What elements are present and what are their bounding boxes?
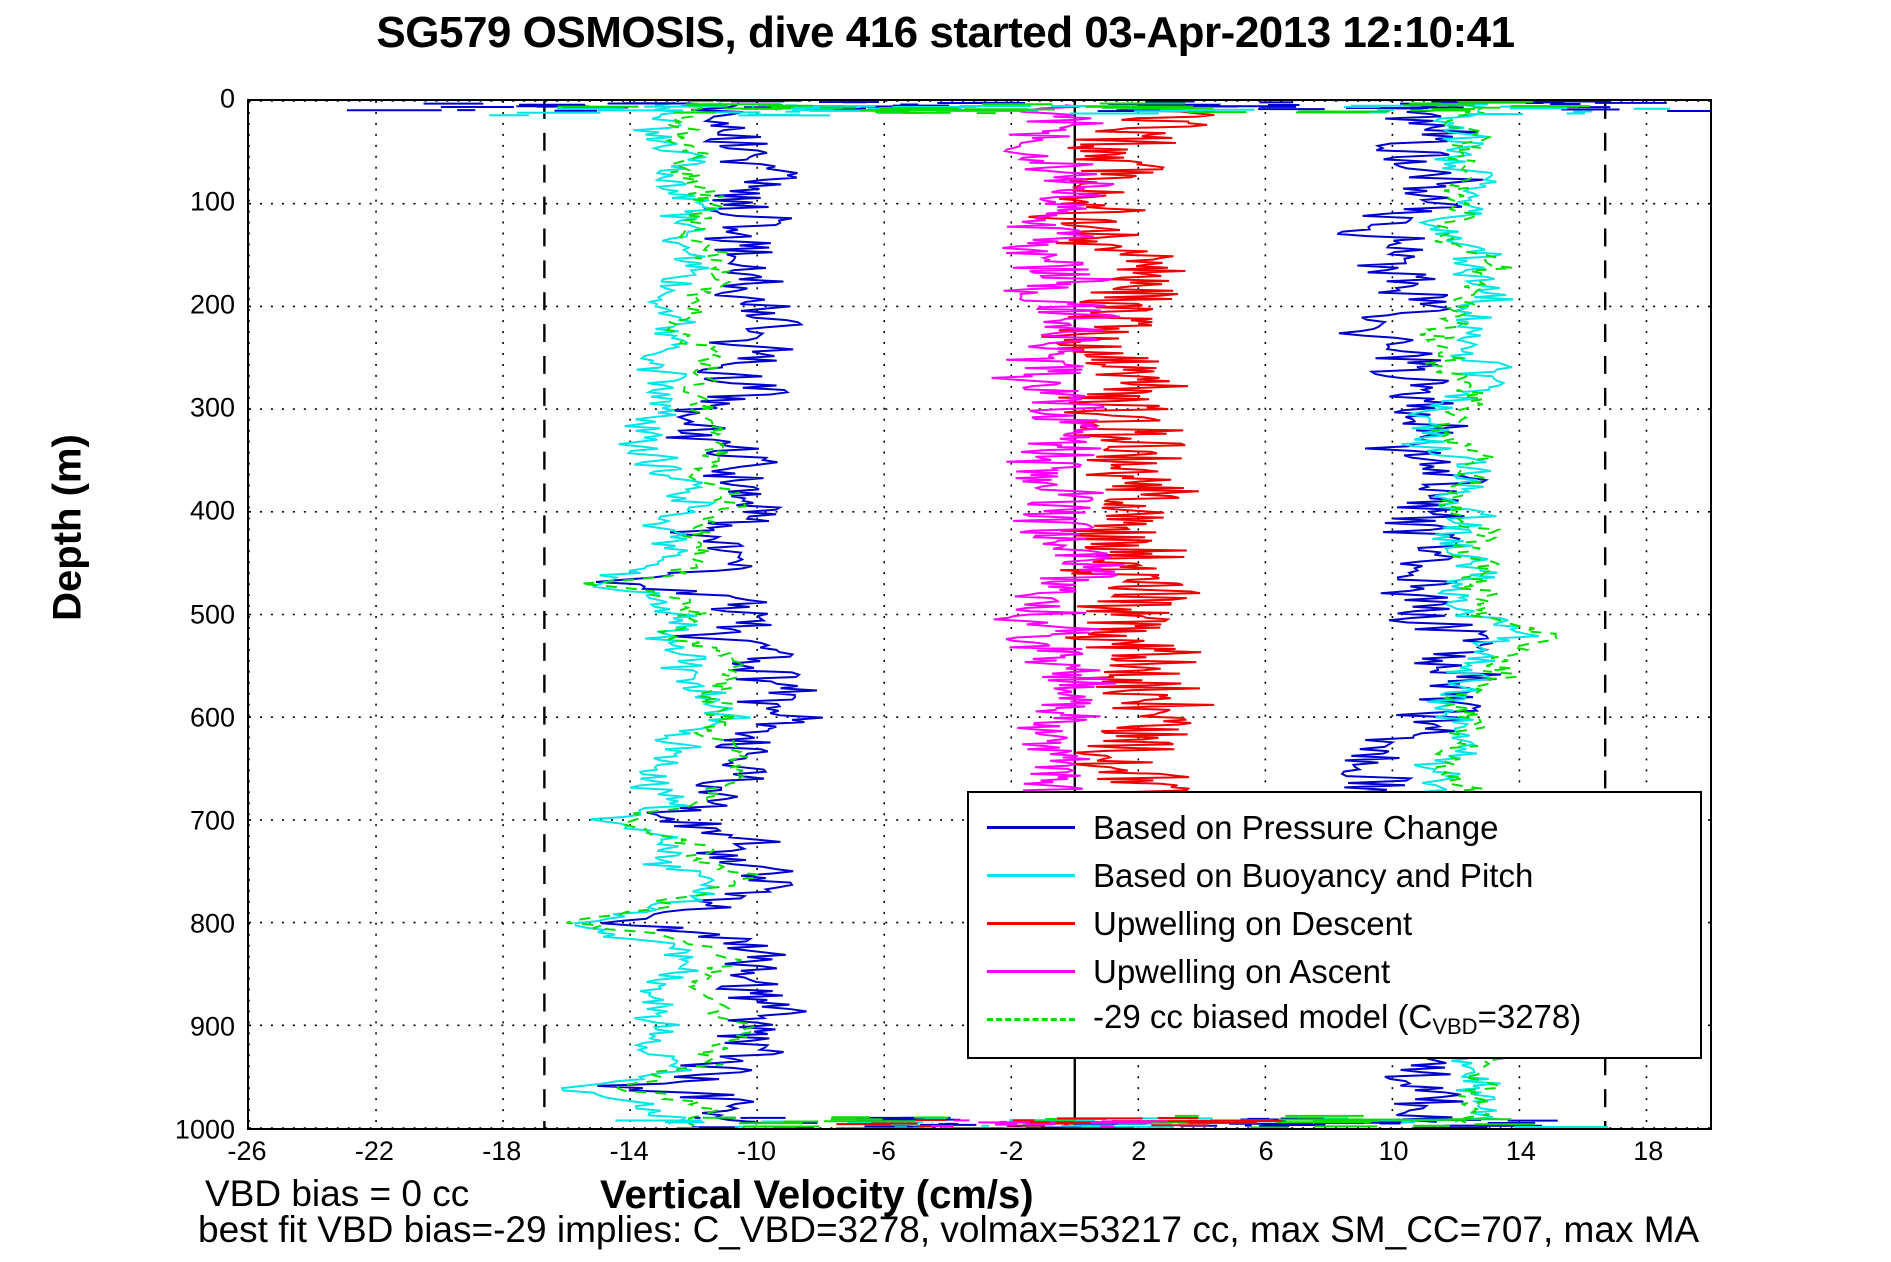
legend-label: -29 cc biased model (CVBD=3278) bbox=[1093, 1000, 1581, 1038]
y-axis-title: Depth (m) bbox=[46, 198, 91, 858]
x-tick-label: -10 bbox=[737, 1136, 776, 1167]
y-tick-label: 100 bbox=[190, 187, 235, 218]
y-tick-label: 600 bbox=[190, 702, 235, 733]
x-tick-label: 14 bbox=[1506, 1136, 1536, 1167]
legend-swatch-icon bbox=[987, 1018, 1075, 1021]
y-tick-label: 0 bbox=[220, 84, 235, 115]
x-tick-label: 2 bbox=[1131, 1136, 1146, 1167]
best-fit-note: best fit VBD bias=-29 implies: C_VBD=327… bbox=[198, 1209, 1699, 1251]
x-tick-label: -14 bbox=[610, 1136, 649, 1167]
page-title: SG579 OSMOSIS, dive 416 started 03-Apr-2… bbox=[0, 8, 1891, 58]
y-axis-tick-labels: 01002003004005006007008009001000 bbox=[140, 99, 235, 1130]
legend: Based on Pressure ChangeBased on Buoyanc… bbox=[967, 791, 1702, 1059]
y-tick-label: 500 bbox=[190, 599, 235, 630]
legend-item-2[interactable]: Upwelling on Descent bbox=[969, 899, 1700, 947]
y-tick-label: 400 bbox=[190, 496, 235, 527]
legend-label: Upwelling on Ascent bbox=[1093, 955, 1390, 988]
y-tick-label: 200 bbox=[190, 290, 235, 321]
x-tick-label: 6 bbox=[1259, 1136, 1274, 1167]
legend-label: Based on Pressure Change bbox=[1093, 811, 1498, 844]
legend-swatch-icon bbox=[987, 874, 1075, 877]
legend-swatch-icon bbox=[987, 826, 1075, 829]
y-tick-label: 900 bbox=[190, 1011, 235, 1042]
y-tick-label: 700 bbox=[190, 805, 235, 836]
x-tick-label: -22 bbox=[355, 1136, 394, 1167]
x-tick-label: -6 bbox=[872, 1136, 896, 1167]
legend-swatch-icon bbox=[987, 970, 1075, 973]
x-tick-label: 18 bbox=[1633, 1136, 1663, 1167]
legend-item-0[interactable]: Based on Pressure Change bbox=[969, 803, 1700, 851]
y-tick-label: 800 bbox=[190, 908, 235, 939]
x-tick-label: -2 bbox=[999, 1136, 1023, 1167]
x-tick-label: 10 bbox=[1378, 1136, 1408, 1167]
x-axis-tick-labels: -26-22-18-14-10-6-226101418 bbox=[247, 1136, 1712, 1176]
legend-swatch-icon bbox=[987, 922, 1075, 925]
legend-label: Upwelling on Descent bbox=[1093, 907, 1412, 940]
legend-item-3[interactable]: Upwelling on Ascent bbox=[969, 947, 1700, 995]
y-axis-title-wrap: Depth (m) bbox=[0, 0, 120, 1262]
y-tick-label: 300 bbox=[190, 393, 235, 424]
y-tick-label: 1000 bbox=[175, 1115, 235, 1146]
legend-label: Based on Buoyancy and Pitch bbox=[1093, 859, 1533, 892]
x-tick-label: -18 bbox=[482, 1136, 521, 1167]
legend-label-subscript: VBD bbox=[1432, 1014, 1477, 1039]
legend-item-1[interactable]: Based on Buoyancy and Pitch bbox=[969, 851, 1700, 899]
x-tick-label: -26 bbox=[227, 1136, 266, 1167]
legend-item-4[interactable]: -29 cc biased model (CVBD=3278) bbox=[969, 995, 1700, 1043]
